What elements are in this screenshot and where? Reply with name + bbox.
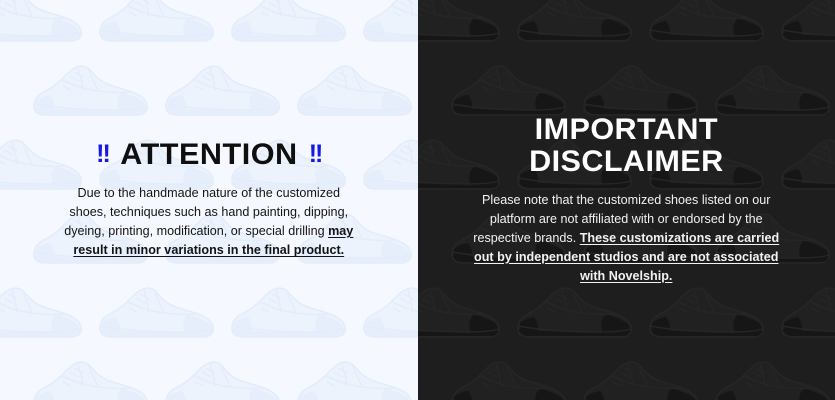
- attention-content: !! ATTENTION !! Due to the handmade natu…: [0, 0, 418, 400]
- attention-headline: !! ATTENTION !!: [96, 140, 321, 170]
- disclaimer-content: IMPORTANT DISCLAIMER Please note that th…: [418, 0, 835, 400]
- disclaimer-title-line1: IMPORTANT: [529, 114, 723, 146]
- attention-body: Due to the handmade nature of the custom…: [59, 184, 359, 261]
- disclaimer-banner: !! ATTENTION !! Due to the handmade natu…: [0, 0, 835, 400]
- disclaimer-headline: IMPORTANT DISCLAIMER: [529, 114, 723, 177]
- exclamation-left-icon: !!: [96, 142, 109, 167]
- disclaimer-body: Please note that the customized shoes li…: [470, 191, 782, 285]
- disclaimer-title-line2: DISCLAIMER: [529, 146, 723, 178]
- disclaimer-panel: IMPORTANT DISCLAIMER Please note that th…: [418, 0, 835, 400]
- exclamation-right-icon: !!: [309, 142, 322, 167]
- attention-body-normal: Due to the handmade nature of the custom…: [64, 186, 348, 238]
- attention-title: ATTENTION: [120, 140, 297, 170]
- attention-panel: !! ATTENTION !! Due to the handmade natu…: [0, 0, 418, 400]
